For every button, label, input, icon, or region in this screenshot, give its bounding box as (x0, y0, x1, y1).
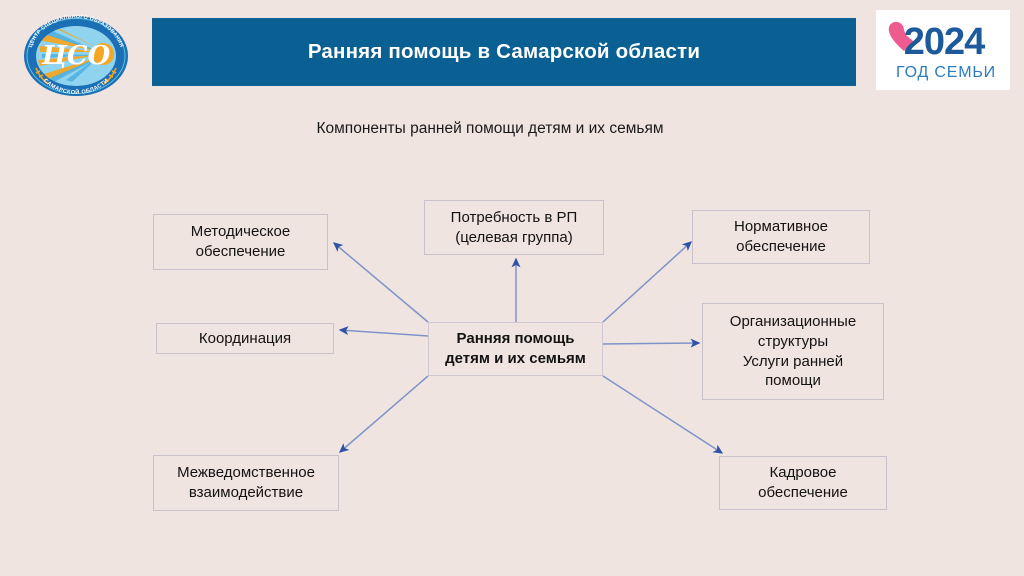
arrow-center-to-coord (340, 330, 428, 336)
arrow-center-to-inter (340, 376, 428, 452)
node-line: помощи (765, 372, 821, 389)
node-organizational-structures[interactable]: Организационные структуры Услуги ранней … (702, 303, 884, 400)
node-line: детям и их семьям (445, 350, 586, 367)
components-diagram: Методическое обеспечение Координация Пот… (0, 0, 1024, 576)
node-line: обеспечение (736, 238, 826, 255)
node-line: Межведомственное (177, 464, 315, 481)
node-center-early-help[interactable]: Ранняя помощь детям и их семьям (428, 322, 603, 376)
node-line: обеспечение (758, 484, 848, 501)
node-line: структуры (758, 333, 828, 350)
node-line: Потребность в РП (451, 209, 578, 226)
node-line: Методическое (191, 223, 290, 240)
node-line: (целевая группа) (455, 229, 573, 246)
node-line: Координация (199, 330, 291, 347)
node-normative-support[interactable]: Нормативное обеспечение (692, 210, 870, 264)
slide-canvas: ЦСО ЦЕНТР СПЕЦИАЛЬНОГО ОБРАЗОВАНИЯ САМАР… (0, 0, 1024, 576)
node-line: Нормативное (734, 218, 828, 235)
node-methodical-support[interactable]: Методическое обеспечение (153, 214, 328, 270)
node-need-for-early-help[interactable]: Потребность в РП (целевая группа) (424, 200, 604, 255)
node-line: взаимодействие (189, 484, 303, 501)
arrow-center-to-method (334, 243, 428, 322)
node-coordination[interactable]: Координация (156, 323, 334, 354)
node-line: Кадровое (769, 464, 836, 481)
node-line: обеспечение (196, 243, 286, 260)
node-line: Ранняя помощь (457, 330, 575, 347)
node-interagency-cooperation[interactable]: Межведомственное взаимодействие (153, 455, 339, 511)
node-line: Организационные (730, 313, 856, 330)
node-staffing-support[interactable]: Кадровое обеспечение (719, 456, 887, 510)
arrow-center-to-org (603, 343, 699, 344)
node-line: Услуги ранней (743, 353, 843, 370)
arrow-center-to-norm (603, 242, 691, 322)
